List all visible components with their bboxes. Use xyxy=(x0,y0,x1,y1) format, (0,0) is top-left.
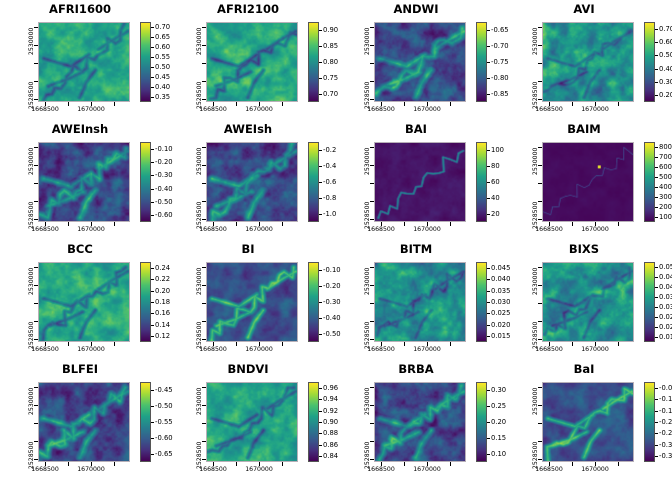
panel-afri1600: AFRI160025300002528500166850016700000.70… xyxy=(0,0,168,120)
y-tick-label: 2530000 xyxy=(197,268,204,296)
x-tick xyxy=(618,102,619,106)
colorbar-tick-label: -0.15 xyxy=(659,407,672,415)
x-tick-label: 1668500 xyxy=(535,106,563,113)
y-tick-label: 2530000 xyxy=(197,388,204,416)
x-tick-label: 1668500 xyxy=(535,346,563,353)
raster-canvas xyxy=(39,143,129,221)
colorbar-tick xyxy=(151,336,154,337)
colorbar xyxy=(476,22,487,102)
y-tick-label: 2530000 xyxy=(197,28,204,56)
y-tick xyxy=(538,303,542,304)
colorbar-tick xyxy=(151,325,154,326)
y-tick-label: 2530000 xyxy=(29,28,36,56)
colorbar-tick xyxy=(487,325,490,326)
colorbar-tick xyxy=(487,182,490,183)
colorbar-tick xyxy=(151,268,154,269)
panel-title: BI xyxy=(192,242,304,256)
colorbar-tick xyxy=(151,215,154,216)
colorbar-tick-label: -0.10 xyxy=(659,395,672,403)
colorbar-tick-label: 20 xyxy=(491,210,500,218)
x-tick xyxy=(236,102,237,106)
x-tick-label: 1668500 xyxy=(367,106,395,113)
y-tick-label: 2530000 xyxy=(197,148,204,176)
y-tick xyxy=(202,63,206,64)
colorbar-tick xyxy=(151,47,154,48)
colorbar-tick xyxy=(319,411,322,412)
colorbar-tick xyxy=(487,313,490,314)
colorbar-tick-label: 0.025 xyxy=(659,313,672,321)
raster-image xyxy=(206,142,298,222)
panel-title: AFRI1600 xyxy=(24,2,136,16)
colorbar-tick xyxy=(319,150,322,151)
colorbar-tick xyxy=(319,198,322,199)
colorbar-tick xyxy=(319,46,322,47)
colorbar xyxy=(308,262,319,342)
panel-baim: BAIM253000025285001668500167000080070060… xyxy=(504,120,672,240)
colorbar-tick xyxy=(319,433,322,434)
panel-title: AWEIsh xyxy=(192,122,304,136)
x-tick-label: 1668500 xyxy=(199,106,227,113)
x-tick-label: 1670000 xyxy=(245,226,273,233)
y-tick-label: 2528500 xyxy=(29,442,36,470)
colorbar-tick xyxy=(487,94,490,95)
y-tick-label: 2530000 xyxy=(365,28,372,56)
colorbar-tick xyxy=(655,95,658,96)
colorbar-tick xyxy=(319,388,322,389)
raster-image xyxy=(206,262,298,342)
panel-title: BaI xyxy=(528,362,640,376)
colorbar-tick xyxy=(151,87,154,88)
panel-title: BAIM xyxy=(528,122,640,136)
y-tick xyxy=(202,183,206,184)
colorbar xyxy=(140,142,151,222)
colorbar-tick-label: -0.6 xyxy=(323,178,336,186)
colorbar-tick xyxy=(319,318,322,319)
raster-image xyxy=(38,142,130,222)
colorbar-tick xyxy=(655,217,658,218)
x-tick-label: 1668500 xyxy=(31,466,59,473)
y-tick xyxy=(538,183,542,184)
x-tick-label: 1670000 xyxy=(77,106,105,113)
colorbar-tick xyxy=(655,197,658,198)
colorbar-tick-label: 300 xyxy=(659,193,672,201)
x-tick xyxy=(68,342,69,346)
colorbar-tick xyxy=(655,55,658,56)
colorbar-tick xyxy=(151,390,154,391)
colorbar-tick-label: 700 xyxy=(659,153,672,161)
colorbar-tick-label: -0.05 xyxy=(659,384,672,392)
colorbar-tick xyxy=(151,175,154,176)
x-tick xyxy=(404,462,405,466)
colorbar-tick xyxy=(655,187,658,188)
raster-image xyxy=(542,262,634,342)
raster-canvas xyxy=(39,383,129,461)
raster-canvas xyxy=(543,263,633,341)
colorbar-tick-label: 0.60 xyxy=(659,38,672,46)
x-tick-label: 1670000 xyxy=(581,346,609,353)
colorbar-tick xyxy=(655,147,658,148)
raster-image xyxy=(206,22,298,102)
raster-canvas xyxy=(543,383,633,461)
y-tick-label: 2528500 xyxy=(197,202,204,230)
colorbar-tick-label: 0.50 xyxy=(659,51,672,59)
colorbar xyxy=(644,262,655,342)
x-tick-label: 1670000 xyxy=(413,466,441,473)
colorbar-tick xyxy=(151,189,154,190)
y-tick-label: 2528500 xyxy=(29,202,36,230)
x-tick-label: 1668500 xyxy=(535,466,563,473)
x-tick xyxy=(68,222,69,226)
colorbar-tick xyxy=(487,422,490,423)
panel-title: BRBA xyxy=(360,362,472,376)
y-tick-label: 2528500 xyxy=(197,82,204,110)
colorbar-tick-label: -0.30 xyxy=(659,441,672,449)
x-tick-label: 1670000 xyxy=(581,106,609,113)
colorbar-tick-label: -0.20 xyxy=(659,418,672,426)
colorbar-tick xyxy=(655,317,658,318)
x-tick-label: 1668500 xyxy=(367,226,395,233)
colorbar-tick xyxy=(655,411,658,412)
colorbar xyxy=(308,22,319,102)
colorbar-tick xyxy=(151,202,154,203)
colorbar-tick xyxy=(655,297,658,298)
colorbar-tick xyxy=(151,422,154,423)
x-tick-label: 1668500 xyxy=(199,466,227,473)
colorbar-tick-label: 0.70 xyxy=(659,25,672,33)
colorbar-tick xyxy=(655,456,658,457)
colorbar-tick-label: 500 xyxy=(659,173,672,181)
panel-title: AFRI2100 xyxy=(192,2,304,16)
colorbar-tick xyxy=(487,198,490,199)
x-tick xyxy=(572,222,573,226)
colorbar-tick-label: 0.20 xyxy=(659,91,672,99)
x-tick xyxy=(114,462,115,466)
colorbar-tick xyxy=(487,214,490,215)
panel-aweinsh: AWEInsh2530000252850016685001670000-0.10… xyxy=(0,120,168,240)
y-tick-label: 2528500 xyxy=(365,202,372,230)
x-tick-label: 1668500 xyxy=(31,346,59,353)
x-tick xyxy=(114,102,115,106)
colorbar-tick-label: 0.40 xyxy=(659,65,672,73)
colorbar-tick-label: -0.2 xyxy=(323,146,336,154)
colorbar-tick xyxy=(655,82,658,83)
raster-canvas xyxy=(543,143,633,221)
colorbar-tick xyxy=(151,302,154,303)
y-tick-label: 2530000 xyxy=(365,388,372,416)
colorbar-tick xyxy=(655,307,658,308)
x-tick xyxy=(404,222,405,226)
colorbar-tick xyxy=(487,438,490,439)
colorbar xyxy=(308,142,319,222)
raster-canvas xyxy=(207,263,297,341)
colorbar-tick xyxy=(151,406,154,407)
colorbar-tick xyxy=(319,182,322,183)
colorbar-tick-label: -1.0 xyxy=(323,210,336,218)
x-tick xyxy=(618,342,619,346)
raster-image xyxy=(374,382,466,462)
x-tick xyxy=(282,342,283,346)
colorbar-tick xyxy=(487,279,490,280)
y-tick-label: 2528500 xyxy=(29,82,36,110)
panel-title: BAI xyxy=(360,122,472,136)
colorbar-tick xyxy=(151,149,154,150)
x-tick-label: 1668500 xyxy=(535,226,563,233)
panel-andwi: ANDWI2530000252850016685001670000-0.65-0… xyxy=(336,0,504,120)
colorbar-tick xyxy=(487,150,490,151)
colorbar-tick-label: 40 xyxy=(491,194,500,202)
panel-title: BITM xyxy=(360,242,472,256)
x-tick xyxy=(236,222,237,226)
colorbar-tick-label: 60 xyxy=(491,178,500,186)
y-tick-label: 2530000 xyxy=(29,388,36,416)
raster-canvas xyxy=(207,23,297,101)
colorbar-tick xyxy=(319,456,322,457)
panel-blfei: BLFEI2530000252850016685001670000-0.45-0… xyxy=(0,360,168,480)
x-tick xyxy=(404,102,405,106)
colorbar-tick xyxy=(319,286,322,287)
panel-aweish: AWEIsh2530000252850016685001670000-0.2-0… xyxy=(168,120,336,240)
colorbar-tick xyxy=(655,277,658,278)
x-tick xyxy=(282,222,283,226)
y-tick xyxy=(34,303,38,304)
x-tick xyxy=(236,462,237,466)
x-tick-label: 1668500 xyxy=(31,106,59,113)
panel-avi: AVI25300002528500166850016700000.700.600… xyxy=(504,0,672,120)
y-tick-label: 2528500 xyxy=(365,442,372,470)
colorbar-tick xyxy=(487,78,490,79)
colorbar-tick-label: -0.35 xyxy=(659,452,672,460)
raster-canvas xyxy=(375,23,465,101)
colorbar-tick xyxy=(151,162,154,163)
raster-canvas xyxy=(39,263,129,341)
raster-image xyxy=(542,142,634,222)
colorbar xyxy=(644,142,655,222)
colorbar-tick xyxy=(655,287,658,288)
raster-canvas xyxy=(375,383,465,461)
y-tick-label: 2530000 xyxy=(533,148,540,176)
colorbar-tick xyxy=(319,445,322,446)
raster-image xyxy=(38,382,130,462)
x-tick xyxy=(572,462,573,466)
raster-image xyxy=(206,382,298,462)
y-tick-label: 2528500 xyxy=(197,442,204,470)
colorbar-tick xyxy=(655,29,658,30)
y-tick-label: 2530000 xyxy=(533,268,540,296)
x-tick xyxy=(404,342,405,346)
raster-canvas xyxy=(207,143,297,221)
y-tick xyxy=(34,63,38,64)
colorbar-tick-label: 0.030 xyxy=(659,303,672,311)
x-tick xyxy=(68,102,69,106)
colorbar-tick xyxy=(655,433,658,434)
y-tick-label: 2528500 xyxy=(29,322,36,350)
colorbar-tick-label: 200 xyxy=(659,203,672,211)
panel-bitm: BITM25300002528500166850016700000.0450.0… xyxy=(336,240,504,360)
colorbar-tick xyxy=(319,94,322,95)
colorbar-tick-label: 100 xyxy=(491,146,504,154)
panel-bai: BAI2530000252850016685001670000100806040… xyxy=(336,120,504,240)
panel-title: AVI xyxy=(528,2,640,16)
x-tick xyxy=(114,342,115,346)
colorbar-tick xyxy=(487,291,490,292)
panel-title: BIXS xyxy=(528,242,640,256)
colorbar-tick-label: 0.050 xyxy=(659,263,672,271)
colorbar-tick xyxy=(487,30,490,31)
colorbar-tick xyxy=(151,67,154,68)
x-tick-label: 1670000 xyxy=(77,466,105,473)
x-tick-label: 1670000 xyxy=(413,346,441,353)
colorbar-tick xyxy=(487,62,490,63)
colorbar-tick xyxy=(151,279,154,280)
raster-image xyxy=(374,142,466,222)
y-tick xyxy=(370,303,374,304)
x-tick xyxy=(450,222,451,226)
colorbar xyxy=(476,382,487,462)
colorbar-tick-label: -0.25 xyxy=(659,429,672,437)
y-tick-label: 2530000 xyxy=(533,388,540,416)
x-tick-label: 1670000 xyxy=(245,106,273,113)
colorbar xyxy=(476,142,487,222)
colorbar-tick xyxy=(319,399,322,400)
colorbar-tick xyxy=(319,30,322,31)
x-tick-label: 1670000 xyxy=(77,346,105,353)
colorbar-tick xyxy=(487,454,490,455)
colorbar-tick xyxy=(487,46,490,47)
colorbar xyxy=(644,382,655,462)
x-tick xyxy=(450,462,451,466)
colorbar-tick xyxy=(151,454,154,455)
colorbar-tick xyxy=(319,78,322,79)
x-tick-label: 1670000 xyxy=(413,106,441,113)
colorbar-tick xyxy=(655,337,658,338)
x-tick-label: 1670000 xyxy=(581,466,609,473)
colorbar-tick xyxy=(655,388,658,389)
colorbar-tick xyxy=(655,157,658,158)
panel-bixs: BIXS25300002528500166850016700000.0500.0… xyxy=(504,240,672,360)
colorbar xyxy=(140,262,151,342)
colorbar-tick xyxy=(151,57,154,58)
colorbar-tick xyxy=(151,27,154,28)
colorbar-tick xyxy=(319,166,322,167)
x-tick-label: 1670000 xyxy=(77,226,105,233)
colorbar-tick xyxy=(487,390,490,391)
x-tick-label: 1670000 xyxy=(245,466,273,473)
x-tick-label: 1670000 xyxy=(581,226,609,233)
colorbar-tick-label: 0.035 xyxy=(659,293,672,301)
x-tick xyxy=(236,342,237,346)
raster-canvas xyxy=(375,143,465,221)
x-tick-label: 1668500 xyxy=(199,346,227,353)
colorbar-tick-label: -0.8 xyxy=(323,194,336,202)
raster-image xyxy=(374,262,466,342)
y-tick-label: 2528500 xyxy=(533,322,540,350)
y-tick xyxy=(370,423,374,424)
y-tick-label: 2528500 xyxy=(533,442,540,470)
x-tick-label: 1668500 xyxy=(367,466,395,473)
colorbar-tick xyxy=(487,166,490,167)
colorbar-tick xyxy=(319,62,322,63)
colorbar-tick-label: 0.040 xyxy=(659,283,672,291)
colorbar-tick xyxy=(319,270,322,271)
y-tick-label: 2530000 xyxy=(365,148,372,176)
colorbar-tick xyxy=(151,77,154,78)
colorbar-tick-label: 0.045 xyxy=(659,273,672,281)
x-tick-label: 1668500 xyxy=(31,226,59,233)
y-tick xyxy=(34,183,38,184)
y-tick xyxy=(202,423,206,424)
colorbar xyxy=(644,22,655,102)
colorbar-tick xyxy=(151,97,154,98)
raster-canvas xyxy=(39,23,129,101)
colorbar-tick xyxy=(151,291,154,292)
x-tick-label: 1668500 xyxy=(367,346,395,353)
colorbar-tick xyxy=(151,37,154,38)
x-tick-label: 1670000 xyxy=(245,346,273,353)
colorbar-tick xyxy=(487,406,490,407)
panel-brba: BRBA25300002528500166850016700000.300.25… xyxy=(336,360,504,480)
y-tick xyxy=(202,303,206,304)
raster-canvas xyxy=(375,263,465,341)
raster-image xyxy=(38,22,130,102)
colorbar-tick xyxy=(655,69,658,70)
colorbar-tick xyxy=(655,167,658,168)
colorbar-tick xyxy=(487,336,490,337)
colorbar-tick xyxy=(487,302,490,303)
colorbar-tick xyxy=(655,399,658,400)
panel-title: ANDWI xyxy=(360,2,472,16)
colorbar-tick-label: 600 xyxy=(659,163,672,171)
x-tick xyxy=(618,222,619,226)
colorbar-tick xyxy=(151,438,154,439)
colorbar-tick xyxy=(319,422,322,423)
panel-title: AWEInsh xyxy=(24,122,136,136)
x-tick xyxy=(282,102,283,106)
y-tick-label: 2528500 xyxy=(365,82,372,110)
y-tick xyxy=(34,423,38,424)
x-tick xyxy=(68,462,69,466)
colorbar-tick xyxy=(319,302,322,303)
y-tick-label: 2530000 xyxy=(29,148,36,176)
y-tick-label: 2530000 xyxy=(29,268,36,296)
colorbar-tick xyxy=(655,267,658,268)
y-tick xyxy=(538,423,542,424)
panel-title: BCC xyxy=(24,242,136,256)
panel-bndvi: BNDVI25300002528500166850016700000.960.9… xyxy=(168,360,336,480)
colorbar-tick-label: 0.30 xyxy=(659,78,672,86)
y-tick-label: 2528500 xyxy=(533,202,540,230)
raster-canvas xyxy=(207,383,297,461)
colorbar-tick-label: -0.4 xyxy=(323,162,336,170)
y-tick xyxy=(370,183,374,184)
colorbar-tick xyxy=(487,268,490,269)
raster-canvas xyxy=(543,23,633,101)
x-tick xyxy=(114,222,115,226)
panel-bcc: BCC25300002528500166850016700000.240.220… xyxy=(0,240,168,360)
raster-image xyxy=(542,22,634,102)
colorbar-tick xyxy=(319,334,322,335)
colorbar-tick-label: 100 xyxy=(659,213,672,221)
x-tick xyxy=(572,102,573,106)
colorbar-tick xyxy=(151,313,154,314)
raster-image xyxy=(374,22,466,102)
y-tick-label: 2528500 xyxy=(365,322,372,350)
colorbar-tick-label: 400 xyxy=(659,183,672,191)
x-tick xyxy=(450,102,451,106)
y-tick-label: 2530000 xyxy=(365,268,372,296)
colorbar xyxy=(476,262,487,342)
x-tick-label: 1670000 xyxy=(413,226,441,233)
colorbar-tick xyxy=(655,327,658,328)
